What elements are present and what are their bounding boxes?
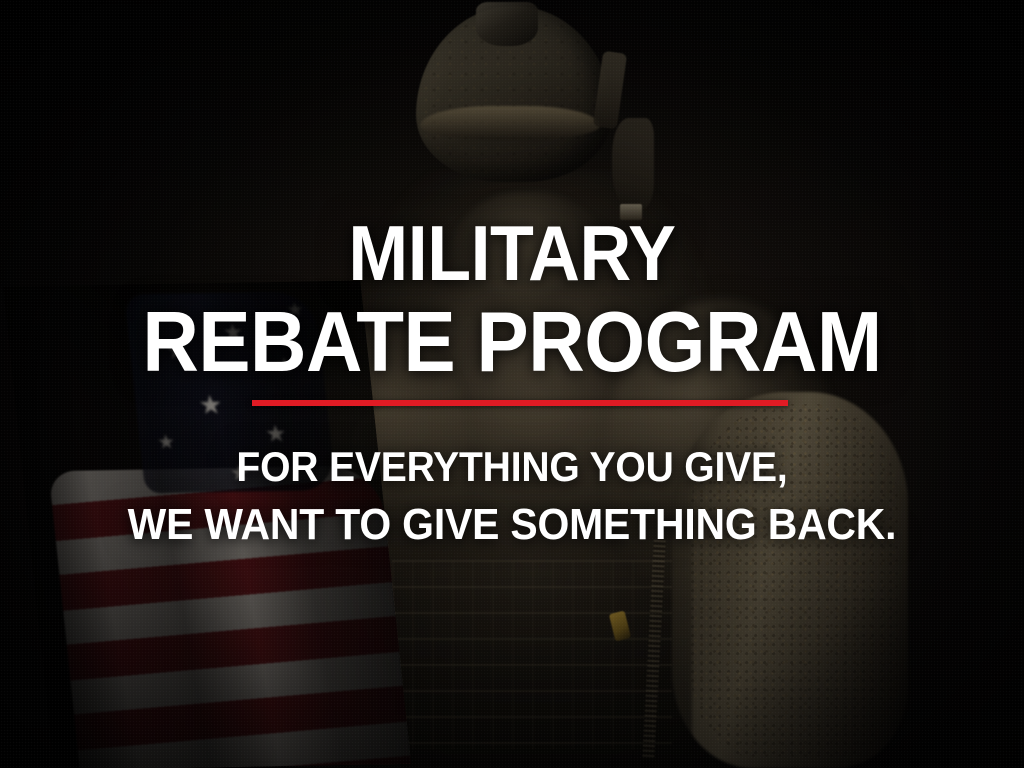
subhead-line-2: WE WANT TO GIVE SOMETHING BACK. bbox=[36, 503, 988, 547]
headline-line-1: MILITARY bbox=[41, 214, 983, 292]
headline-line-2: REBATE PROGRAM bbox=[41, 300, 983, 385]
subhead-line-1: FOR EVERYTHING YOU GIVE, bbox=[36, 446, 988, 488]
red-divider-rule bbox=[252, 400, 788, 406]
text-overlay: MILITARY REBATE PROGRAM FOR EVERYTHING Y… bbox=[0, 0, 1024, 768]
military-rebate-poster: MILITARY REBATE PROGRAM FOR EVERYTHING Y… bbox=[0, 0, 1024, 768]
